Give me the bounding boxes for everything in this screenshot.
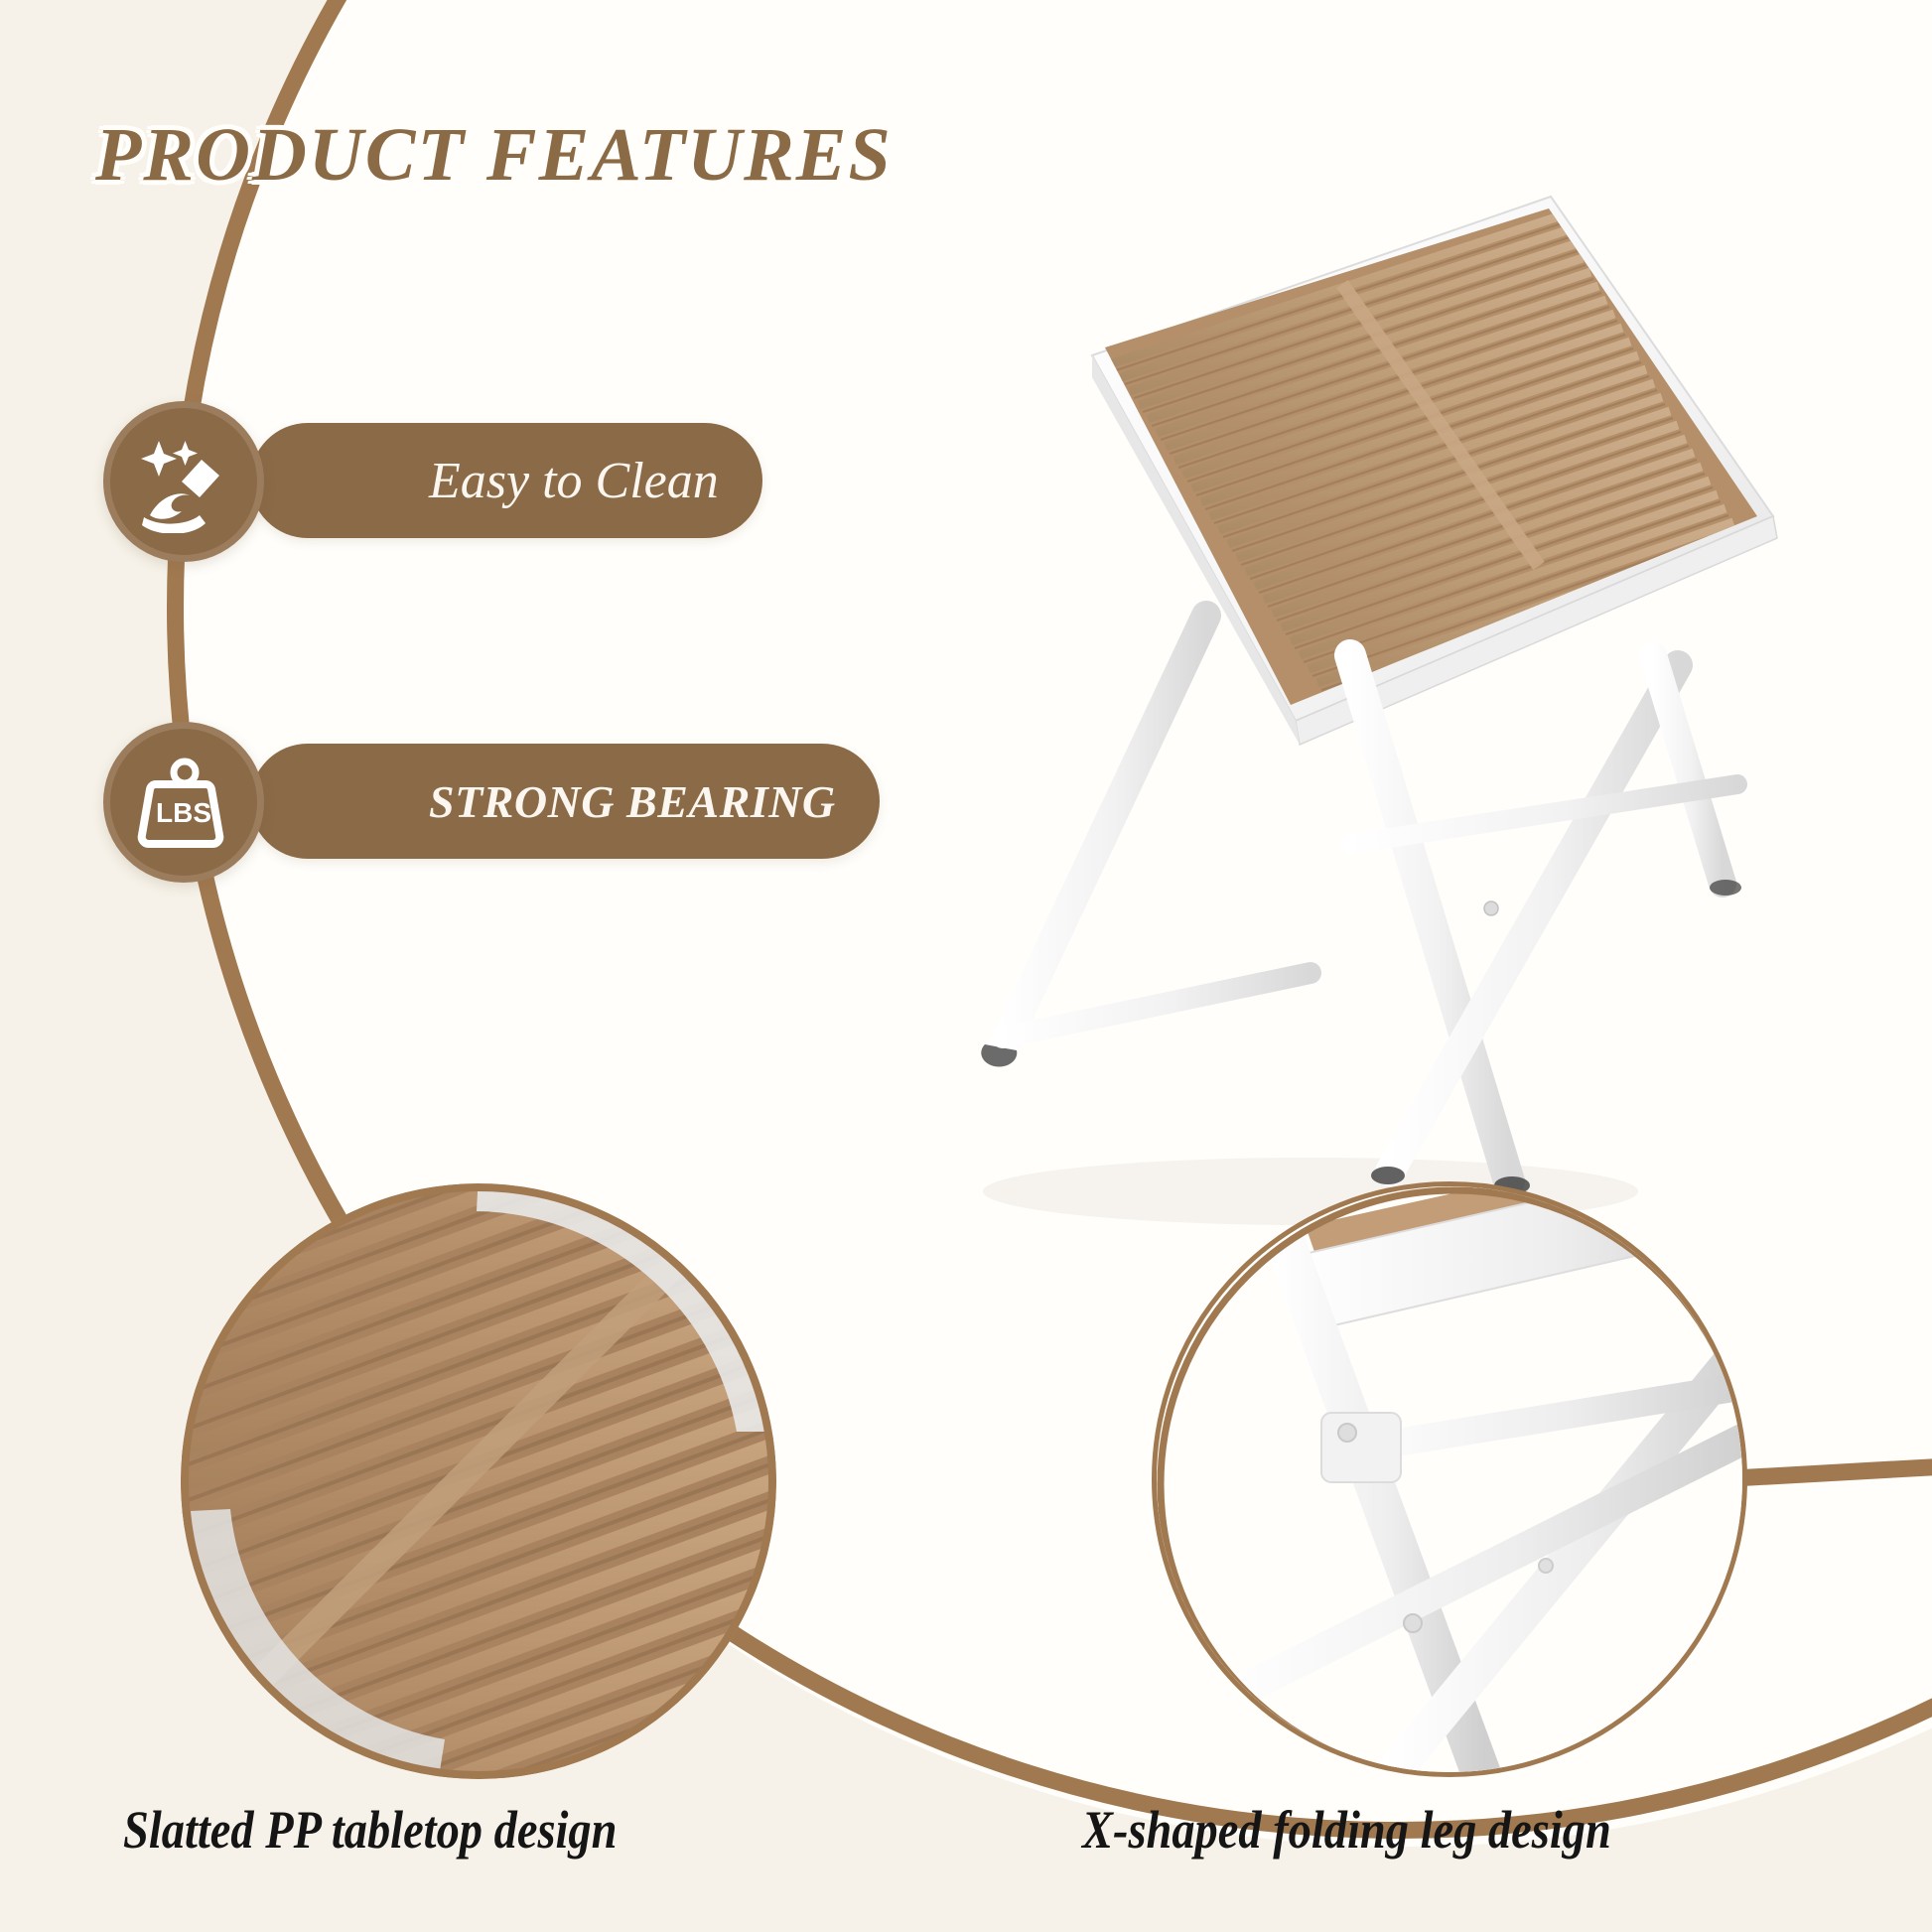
feature-pill: Easy to Clean xyxy=(250,423,762,538)
leg-front-x xyxy=(1350,655,1741,1194)
page-title: PRODUCT FEATURES xyxy=(95,117,893,193)
product-hero-image xyxy=(755,189,1807,1330)
caption-slatted-tabletop: Slatted PP tabletop design xyxy=(123,1799,617,1861)
detail-circle-slatted-tabletop xyxy=(181,1183,776,1779)
feature-label: STRONG BEARING xyxy=(429,775,836,828)
infographic-canvas: PRODUCT FEATURES Easy to Clean STRONG BE… xyxy=(0,0,1932,1932)
lbs-icon-text: LBS xyxy=(156,797,211,828)
sparkle-hand-wipe-icon xyxy=(103,401,264,562)
weight-lbs-icon: LBS xyxy=(103,722,264,883)
feature-pill: STRONG BEARING xyxy=(250,744,880,859)
leg-back xyxy=(981,616,1311,1067)
caption-folding-leg: X-shaped folding leg design xyxy=(1082,1799,1611,1861)
feature-label: Easy to Clean xyxy=(429,452,719,510)
detail-circle-folding-leg xyxy=(1152,1181,1747,1777)
